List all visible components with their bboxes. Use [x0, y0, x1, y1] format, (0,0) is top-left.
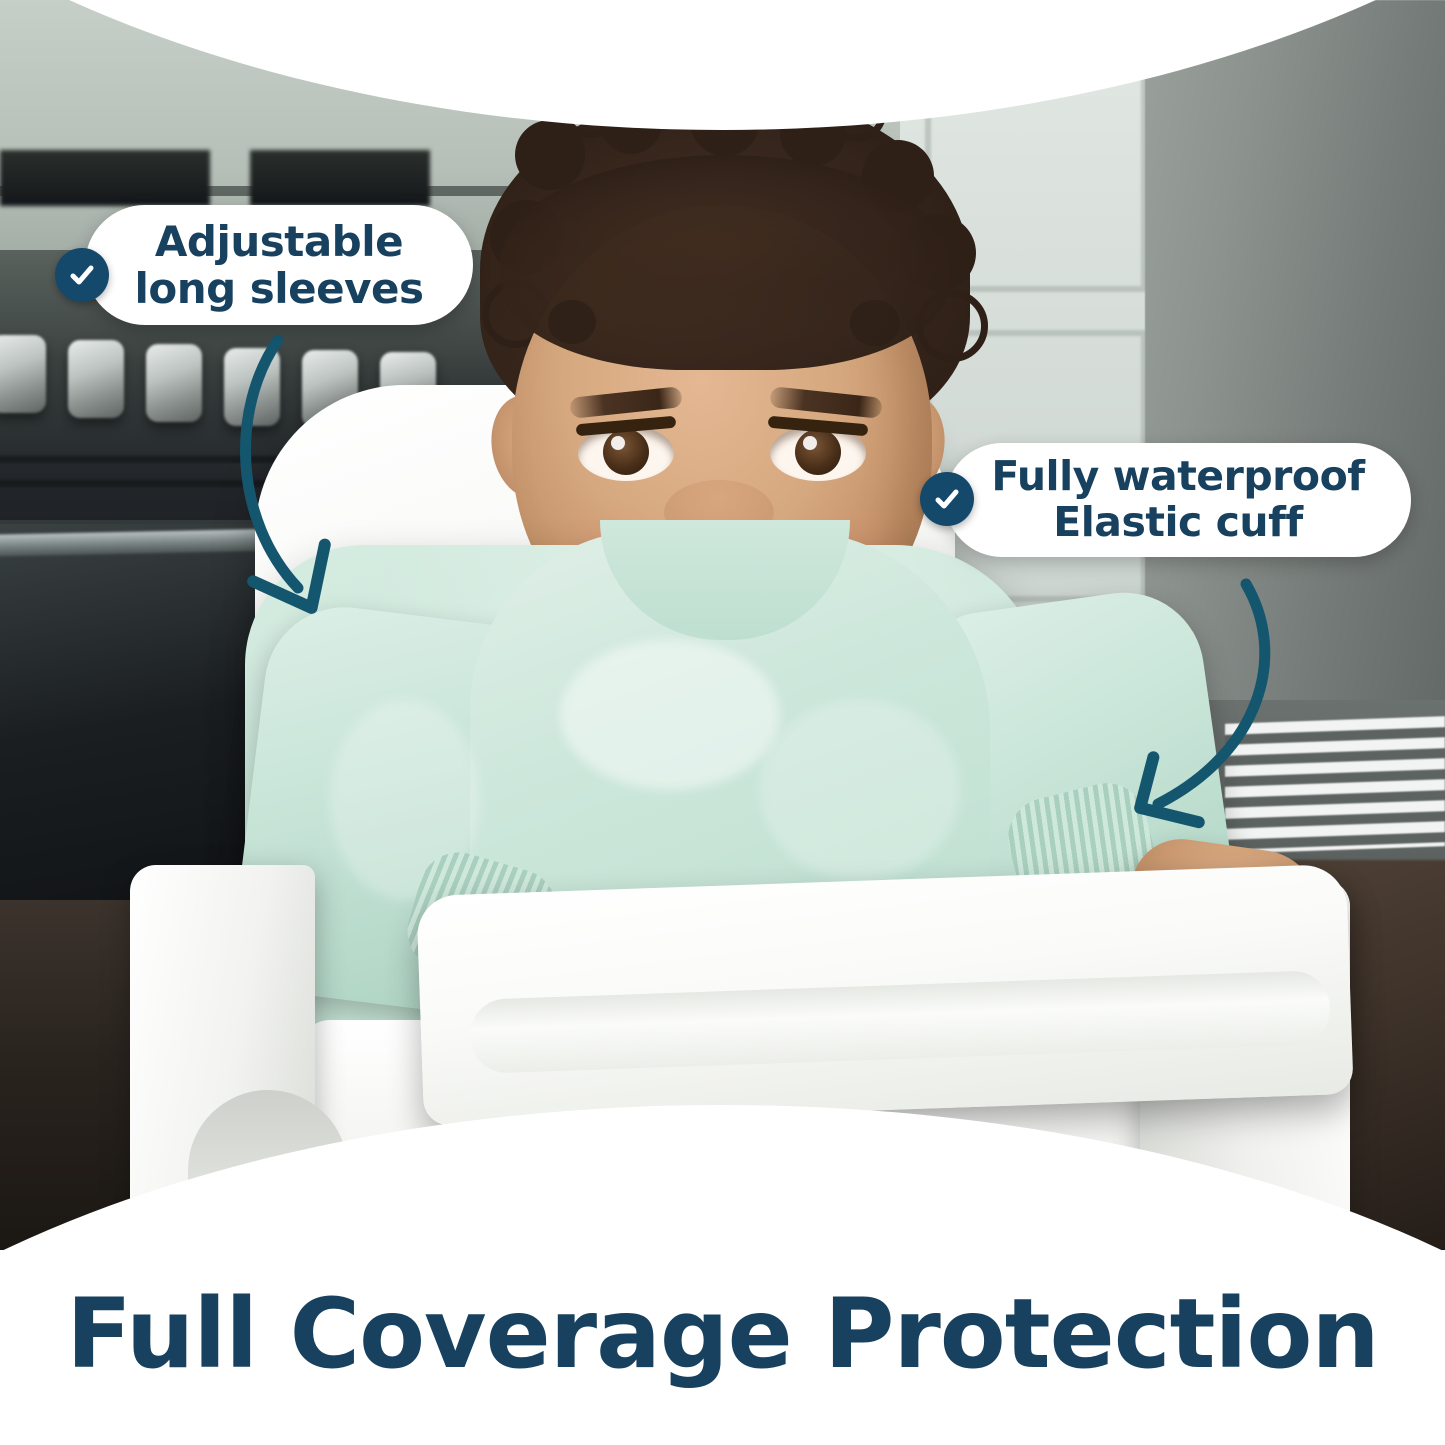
- product-feature-image: Adjustable long sleeves Fully waterproof…: [0, 0, 1445, 1445]
- callout-fully-waterproof-elastic-cuff[interactable]: Fully waterproof Elastic cuff: [945, 443, 1411, 557]
- check-circle-icon: [55, 248, 109, 302]
- callout-label: Adjustable long sleeves: [134, 218, 423, 312]
- check-circle-icon: [920, 472, 974, 526]
- page-headline: Full Coverage Protection: [0, 1278, 1445, 1390]
- curved-arrow-down-right: [220, 320, 450, 670]
- callout-label: Fully waterproof Elastic cuff: [991, 454, 1364, 546]
- oven-knob: [0, 335, 46, 413]
- oven-knob: [68, 340, 124, 418]
- iris-left: [603, 429, 649, 475]
- range-control-dark: [250, 150, 430, 206]
- hair-curl: [548, 300, 596, 344]
- oven-knob: [146, 344, 202, 422]
- check-glyph: [931, 483, 963, 515]
- bib-fold: [760, 700, 960, 880]
- callout-adjustable-long-sleeves[interactable]: Adjustable long sleeves: [85, 205, 473, 325]
- range-control-dark: [0, 150, 210, 206]
- callout-pill[interactable]: Adjustable long sleeves: [85, 205, 473, 325]
- check-glyph: [66, 259, 98, 291]
- iris-right: [795, 429, 841, 475]
- callout-pill[interactable]: Fully waterproof Elastic cuff: [945, 443, 1411, 557]
- hair-curl: [850, 300, 900, 346]
- curved-arrow-down-left: [1110, 570, 1350, 840]
- bib-fold: [560, 640, 780, 790]
